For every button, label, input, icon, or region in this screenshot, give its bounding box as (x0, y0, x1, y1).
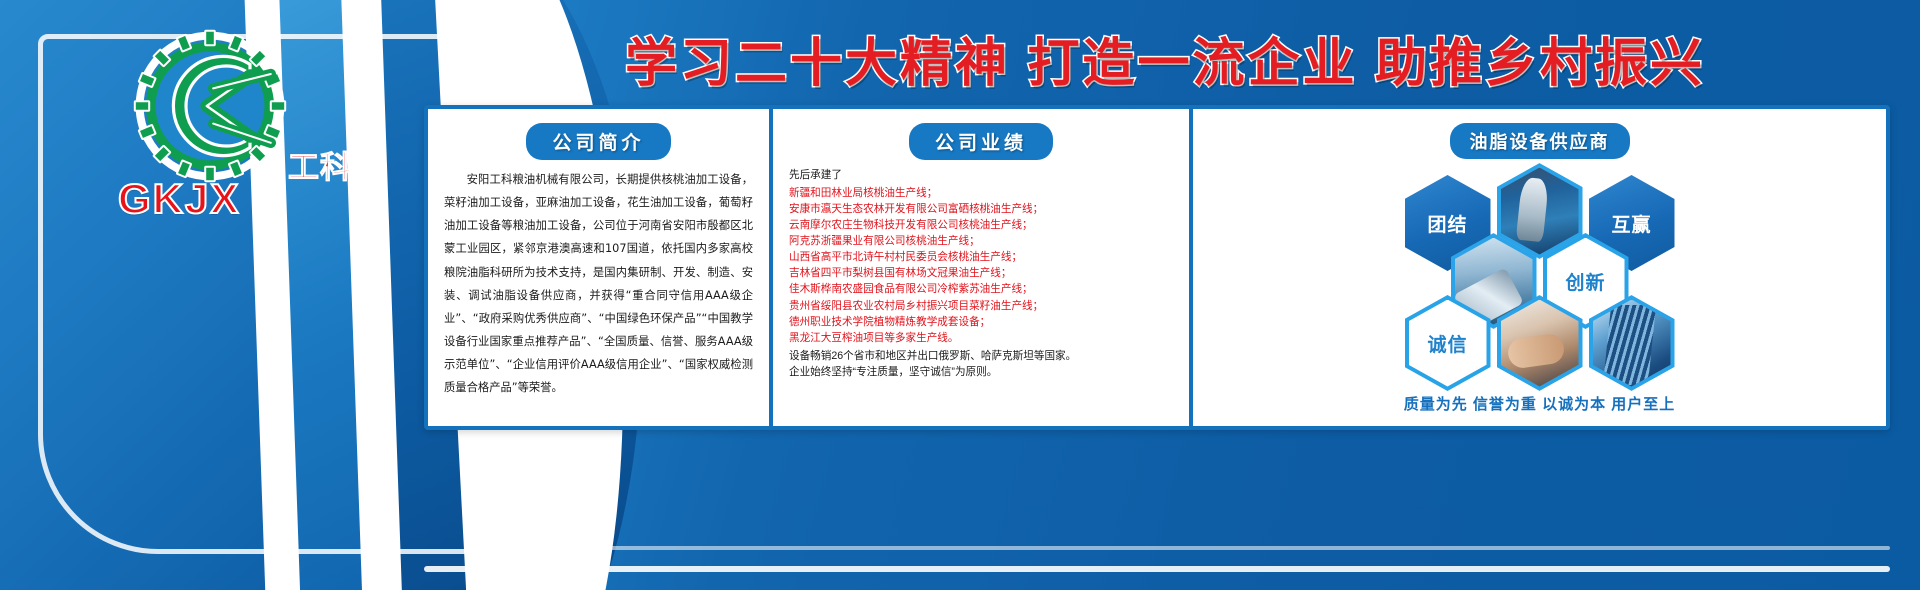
achievement-item: 德州职业技术学院植物精炼教学成套设备； (789, 314, 1173, 330)
hex-mutual-win-label: 互赢 (1611, 210, 1651, 237)
poster-board: 工科 GKJX 学习二十大精神 打造一流企业 助推乡村振兴 公司简介 安阳工科粮… (0, 0, 1920, 590)
logo-latin-text: GKJX (118, 178, 240, 220)
panel-3-title: 油脂设备供应商 (1450, 123, 1630, 159)
achievement-item: 黑龙江大豆榨油项目等多家生产线。 (789, 330, 1173, 346)
achievements-tail-line: 设备畅销26个省市和地区并出口俄罗斯、哈萨克斯坦等国家。 (789, 348, 1173, 364)
hexagon-cluster: 团结 互赢 创新 (1209, 167, 1870, 357)
achievement-item: 贵州省绥阳县农业农村局乡村振兴项目菜籽油生产线； (789, 298, 1173, 314)
panel-3-title-wrap: 油脂设备供应商 (1209, 123, 1870, 159)
achievement-item: 新疆和田林业局核桃油生产线； (789, 185, 1173, 201)
hex-unity-label: 团结 (1427, 210, 1467, 237)
bottom-accent-bar-1 (424, 566, 1890, 572)
panel-2-title-wrap: 公司业绩 (789, 123, 1173, 160)
hex-inner: 诚信 (1409, 300, 1487, 387)
achievements-tail: 设备畅销26个省市和地区并出口俄罗斯、哈萨克斯坦等国家。企业始终坚持“专注质量，… (789, 348, 1173, 381)
panel-1-title-wrap: 公司简介 (444, 123, 753, 160)
panel-company-achievements: 公司业绩 先后承建了 新疆和田林业局核桃油生产线；安康市瀛天生态农林开发有限公司… (773, 109, 1193, 426)
achievement-item: 安康市瀛天生态农林开发有限公司富硒核桃油生产线； (789, 201, 1173, 217)
achievement-item: 吉林省四平市梨树县国有林场文冠果油生产线； (789, 265, 1173, 281)
headline-text: 学习二十大精神 打造一流企业 助推乡村振兴 (625, 21, 1705, 96)
supplier-slogan: 质量为先 信誉为重 以诚为本 用户至上 (1193, 393, 1886, 414)
poster-headline: 学习二十大精神 打造一流企业 助推乡村振兴 (430, 18, 1900, 98)
achievement-item: 阿克苏浙疆果业有限公司核桃油生产线； (789, 233, 1173, 249)
panel-1-title: 公司简介 (526, 123, 670, 160)
achievement-item: 佳木斯桦南农盛园食品有限公司冷榨紫苏油生产线； (789, 281, 1173, 297)
hex-integrity-label: 诚信 (1427, 330, 1467, 357)
panel-2-title: 公司业绩 (909, 123, 1053, 160)
gear-gk-monogram-icon (130, 26, 290, 186)
content-strip: 公司简介 安阳工科粮油机械有限公司，长期提供核桃油加工设备，菜籽油加工设备，亚麻… (424, 105, 1890, 430)
achievements-list: 新疆和田林业局核桃油生产线；安康市瀛天生态农林开发有限公司富硒核桃油生产线；云南… (789, 185, 1173, 346)
achievement-item: 云南摩尔农庄生物科技开发有限公司核桃油生产线； (789, 217, 1173, 233)
bottom-accent-bar-2 (470, 546, 1890, 550)
logo-chinese-text: 工科 (288, 152, 352, 183)
achievements-tail-line: 企业始终坚持“专注质量，坚守诚信”为原则。 (789, 364, 1173, 380)
panel-supplier-values: 油脂设备供应商 团结 互赢 (1193, 109, 1886, 426)
company-logo: 工科 GKJX (112, 26, 342, 206)
company-profile-text: 安阳工科粮油机械有限公司，长期提供核桃油加工设备，菜籽油加工设备，亚麻油加工设备… (444, 168, 753, 400)
hex-innovation-label: 创新 (1565, 268, 1605, 295)
achievement-item: 山西省高平市北诗午村村民委员会核桃油生产线； (789, 249, 1173, 265)
panel-company-profile: 公司简介 安阳工科粮油机械有限公司，长期提供核桃油加工设备，菜籽油加工设备，亚麻… (428, 109, 773, 426)
achievements-intro: 先后承建了 (789, 168, 1173, 184)
